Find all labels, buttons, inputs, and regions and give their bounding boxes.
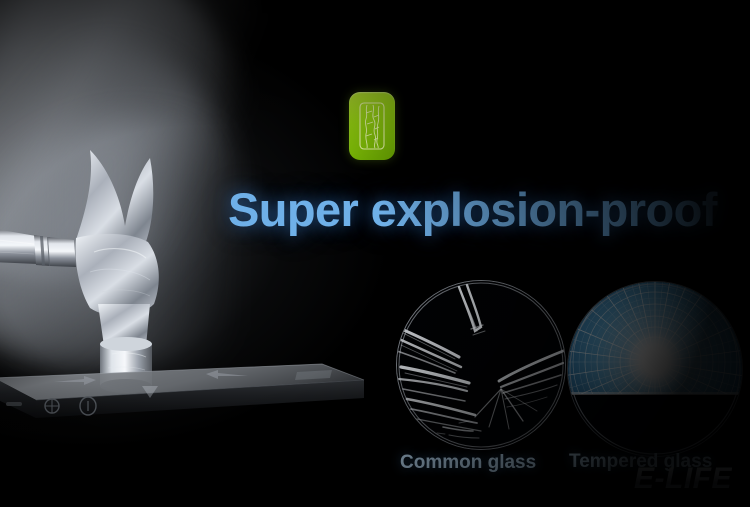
- brand-watermark: E-LIFE: [634, 462, 732, 496]
- smartphone-image: [0, 358, 372, 438]
- cracked-screen-icon: [359, 102, 385, 150]
- common-glass-inset: [396, 280, 566, 450]
- product-banner: Super explosion-proof: [0, 0, 750, 507]
- caption-common-glass: Common glass: [400, 452, 536, 474]
- page-title: Super explosion-proof: [228, 182, 717, 237]
- tempered-glass-inset: [567, 281, 743, 457]
- tempered-glass-logo-badge: [349, 92, 395, 160]
